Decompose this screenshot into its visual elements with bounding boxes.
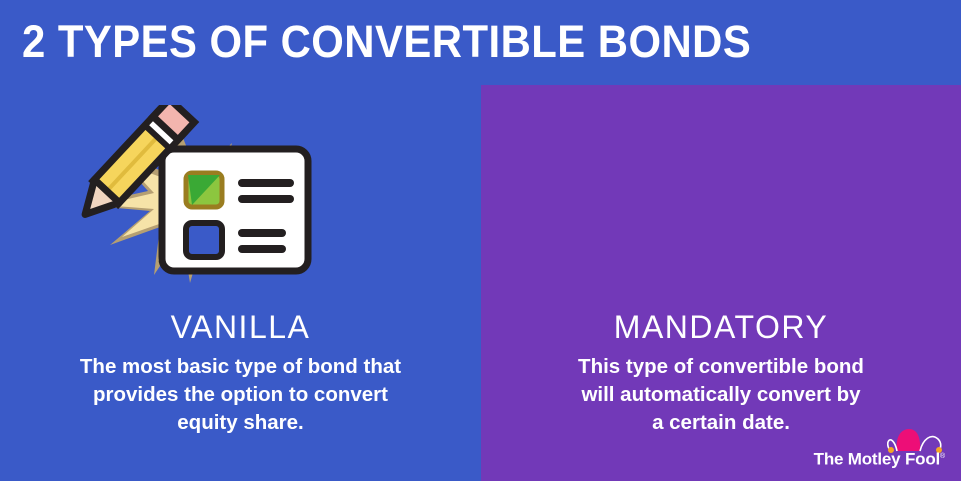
registered-mark: ® [940,453,945,460]
panel-body-line: equity share. [40,409,441,437]
panel-body-line: This type of convertible bond [521,353,921,381]
pencil-form-icon [62,105,322,285]
form-card-shape [162,149,308,271]
logo-text: The Motley Fool® [814,448,945,469]
panel-heading-vanilla: VANILLA [0,309,481,345]
panel-body-line: provides the option to convert [40,381,441,409]
infographic-canvas: VANILLA The most basic type of bond that… [0,0,961,481]
panel-body-mandatory: This type of convertible bond will autom… [481,353,961,437]
logo-wordmark: The Motley Fool [814,450,940,469]
panel-heading-mandatory: MANDATORY [481,309,961,345]
panel-mandatory: MANDATORY This type of convertible bond … [481,85,961,481]
panel-body-vanilla: The most basic type of bond that provide… [0,353,481,437]
panel-vanilla: VANILLA The most basic type of bond that… [0,85,481,481]
header-band: 2 TYPES OF CONVERTIBLE BONDS [0,0,961,85]
motley-fool-logo[interactable]: The Motley Fool® [814,448,945,469]
panel-body-line: The most basic type of bond that [40,353,441,381]
page-title: 2 TYPES OF CONVERTIBLE BONDS [22,17,751,67]
panel-body-line: a certain date. [521,409,921,437]
panel-body-line: will automatically convert by [521,381,921,409]
